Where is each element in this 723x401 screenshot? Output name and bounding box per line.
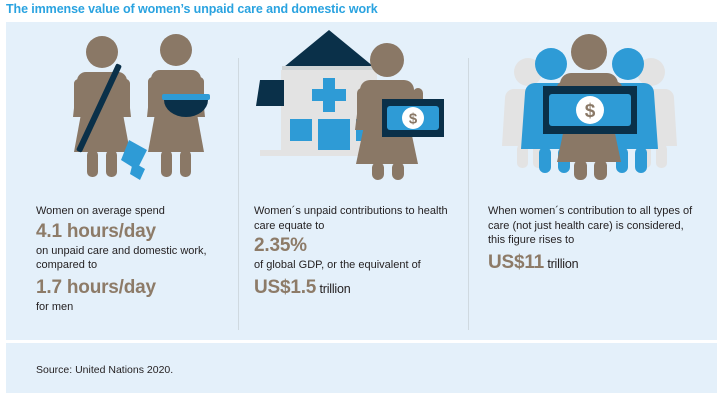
panels-container: Women on average spend 4.1 hours/day on … [6,22,717,332]
panel-1-stat-2: 1.7 hours/day [36,275,234,300]
panel-2-stat-2-suffix: trillion [316,282,350,296]
column-divider-1 [238,58,239,330]
panel-3-lead: When women´s contribution to all types o… [488,204,693,248]
svg-text:$: $ [409,111,418,128]
column-divider-2 [468,58,469,330]
source-note: Source: United Nations 2020. [36,364,173,376]
hospital-and-woman-with-money-icon: $ [254,22,454,182]
panel-health-care-gdp: $ Women´s unpaid contributions to health… [254,22,454,182]
group-of-people-with-money-icon: $ [488,22,693,182]
panel-1-stat-1: 4.1 hours/day [36,219,234,244]
panel-2-copy: Women´s unpaid contributions to health c… [254,204,454,302]
panel-2-mid: of global GDP, or the equivalent of [254,258,454,273]
panel-unpaid-hours: Women on average spend 4.1 hours/day on … [36,22,234,182]
panel-1-mid: on unpaid care and domestic work, compar… [36,244,234,273]
panel-2-lead: Women´s unpaid contributions to health c… [254,204,454,233]
panel-3-stat-1: US$11 trillion [488,250,693,277]
panel-3-stat-1-suffix: trillion [544,257,578,271]
source-divider [6,340,717,343]
infographic-card: Women on average spend 4.1 hours/day on … [6,22,717,393]
page-title: The immense value of women’s unpaid care… [6,2,378,16]
panel-3-copy: When women´s contribution to all types o… [488,204,693,277]
panel-all-care-total: $ When women´s contribution to all types… [488,22,693,182]
panel-2-stat-2: US$1.5 trillion [254,275,454,302]
panel-1-tail: for men [36,300,234,315]
two-women-cleaning-and-cooking-icon [36,22,234,182]
panel-2-stat-2-value: US$1.5 [254,277,316,298]
panel-1-copy: Women on average spend 4.1 hours/day on … [36,204,234,314]
panel-3-stat-1-value: US$11 [488,252,544,273]
panel-2-stat-1: 2.35% [254,233,454,258]
svg-text:$: $ [585,101,596,122]
panel-1-lead: Women on average spend [36,204,234,219]
